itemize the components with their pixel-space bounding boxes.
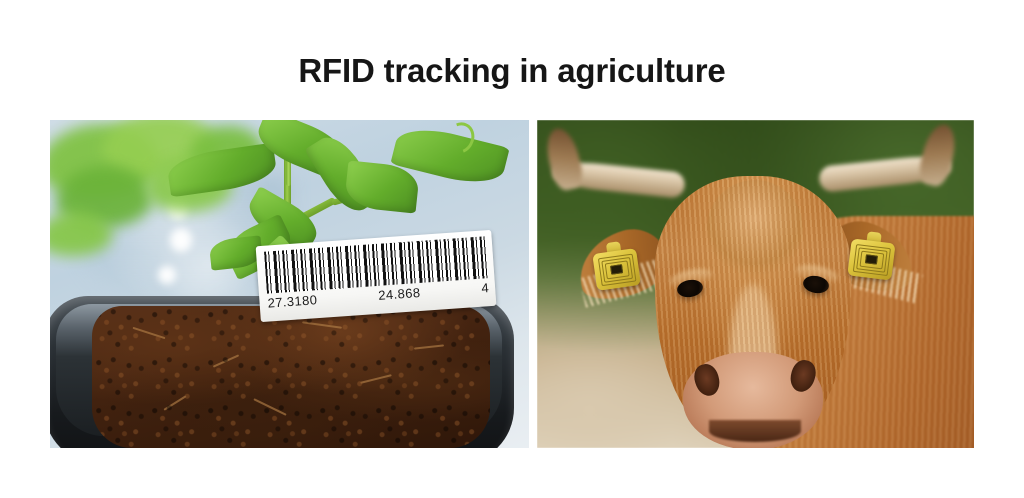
barcode-number-left: 27.3180 bbox=[267, 292, 318, 310]
figure-cow-rfid-eartags bbox=[537, 120, 974, 448]
bokeh-highlight bbox=[170, 228, 192, 252]
ear-tag-body bbox=[592, 248, 641, 291]
soil-fiber bbox=[133, 327, 166, 339]
figure-row: 27.3180 24.868 4 bbox=[50, 120, 974, 448]
soil-fiber bbox=[163, 395, 186, 410]
rfid-ear-tag-right bbox=[847, 229, 896, 280]
ear-tag-body bbox=[847, 238, 895, 280]
soil-fiber bbox=[302, 321, 342, 329]
soil-fiber bbox=[213, 354, 239, 367]
barcode-number-right: 24.868 bbox=[378, 285, 421, 303]
rfid-chip-icon bbox=[610, 264, 623, 275]
soil-fiber bbox=[360, 374, 392, 384]
barcode-check-digit: 4 bbox=[481, 280, 490, 295]
rfid-chip-icon bbox=[865, 254, 878, 264]
figure-plant-barcode: 27.3180 24.868 4 bbox=[50, 120, 529, 448]
page-root: RFID tracking in agriculture bbox=[0, 0, 1024, 498]
soil-fiber bbox=[253, 398, 286, 416]
soil bbox=[92, 306, 490, 448]
cow-mouth bbox=[709, 420, 801, 442]
rfid-ear-tag-left bbox=[591, 239, 641, 291]
pot-rim bbox=[56, 304, 502, 436]
soil-fiber bbox=[414, 344, 444, 349]
page-title: RFID tracking in agriculture bbox=[0, 52, 1024, 90]
cow-forelock bbox=[707, 180, 803, 276]
bokeh-highlight bbox=[158, 266, 176, 284]
